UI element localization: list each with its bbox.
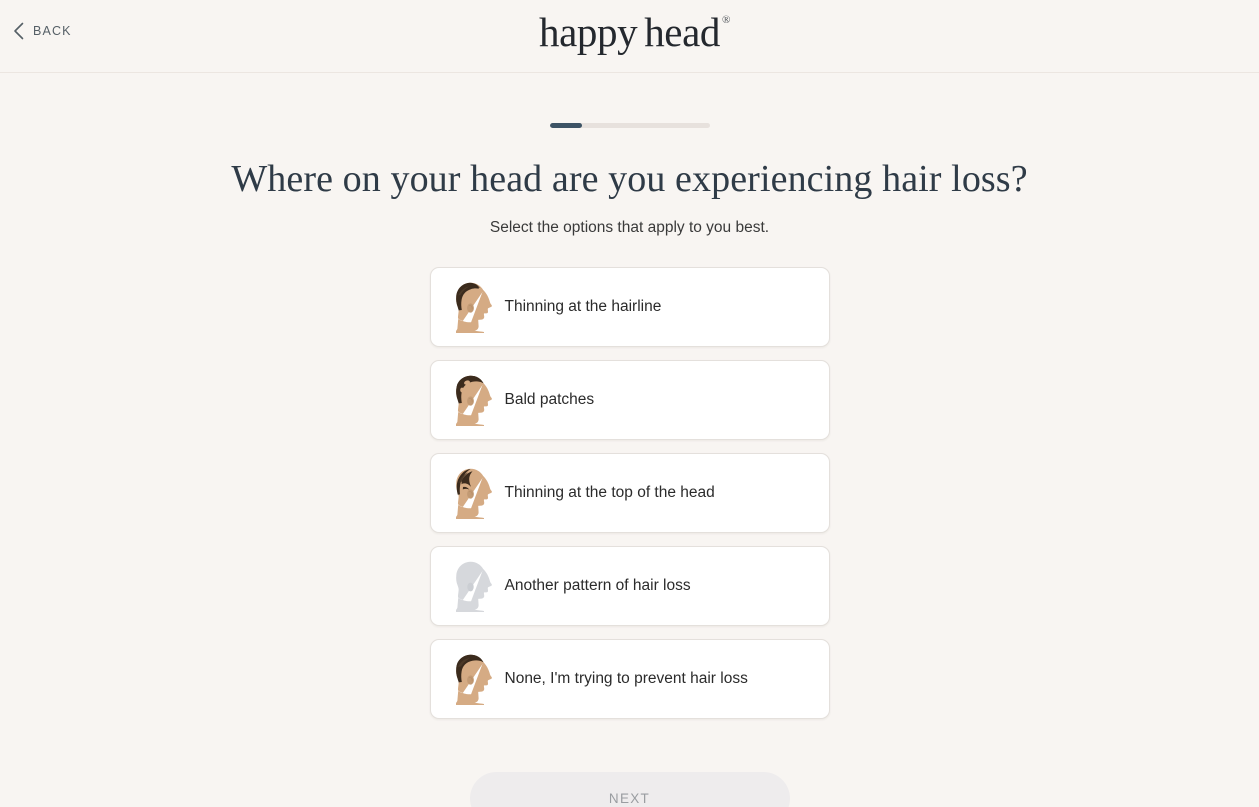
option-card-thinning-top[interactable]: Thinning at the top of the head	[430, 453, 830, 533]
registered-trademark-icon: ®	[722, 14, 730, 26]
head-profile-full-hair-icon	[453, 653, 497, 705]
head-profile-bald-patches-icon	[453, 374, 497, 426]
option-card-bald-patches[interactable]: Bald patches	[430, 360, 830, 440]
progress-track	[550, 123, 710, 128]
logo-word-happy: happy	[539, 9, 637, 55]
chevron-left-icon	[13, 22, 24, 40]
head-profile-thinning-hairline-icon	[453, 281, 497, 333]
main-content: Where on your head are you experiencing …	[0, 123, 1259, 807]
option-card-another-pattern[interactable]: Another pattern of hair loss	[430, 546, 830, 626]
option-label: Bald patches	[505, 391, 595, 410]
option-label: Thinning at the hairline	[505, 298, 662, 317]
back-button[interactable]: BACK	[13, 22, 72, 40]
head-silhouette-gray-icon	[453, 560, 497, 612]
page-title: Where on your head are you experiencing …	[0, 159, 1259, 201]
progress-bar	[550, 123, 710, 128]
option-label: Another pattern of hair loss	[505, 577, 691, 596]
logo-word-head: head	[644, 9, 720, 55]
next-button[interactable]: NEXT	[470, 772, 790, 807]
head-profile-thinning-crown-icon	[453, 467, 497, 519]
app-header: BACK happyhead®	[0, 0, 1259, 73]
option-card-thinning-hairline[interactable]: Thinning at the hairline	[430, 267, 830, 347]
progress-fill	[550, 123, 582, 128]
option-label: None, I'm trying to prevent hair loss	[505, 670, 748, 689]
back-button-label: BACK	[33, 24, 72, 38]
brand-logo: happyhead®	[0, 8, 1259, 56]
options-list: Thinning at the hairline Bald patches Th…	[430, 267, 830, 719]
option-label: Thinning at the top of the head	[505, 484, 715, 503]
option-card-none-prevent[interactable]: None, I'm trying to prevent hair loss	[430, 639, 830, 719]
footer-actions: NEXT	[0, 772, 1259, 807]
page-subtitle: Select the options that apply to you bes…	[0, 219, 1259, 237]
